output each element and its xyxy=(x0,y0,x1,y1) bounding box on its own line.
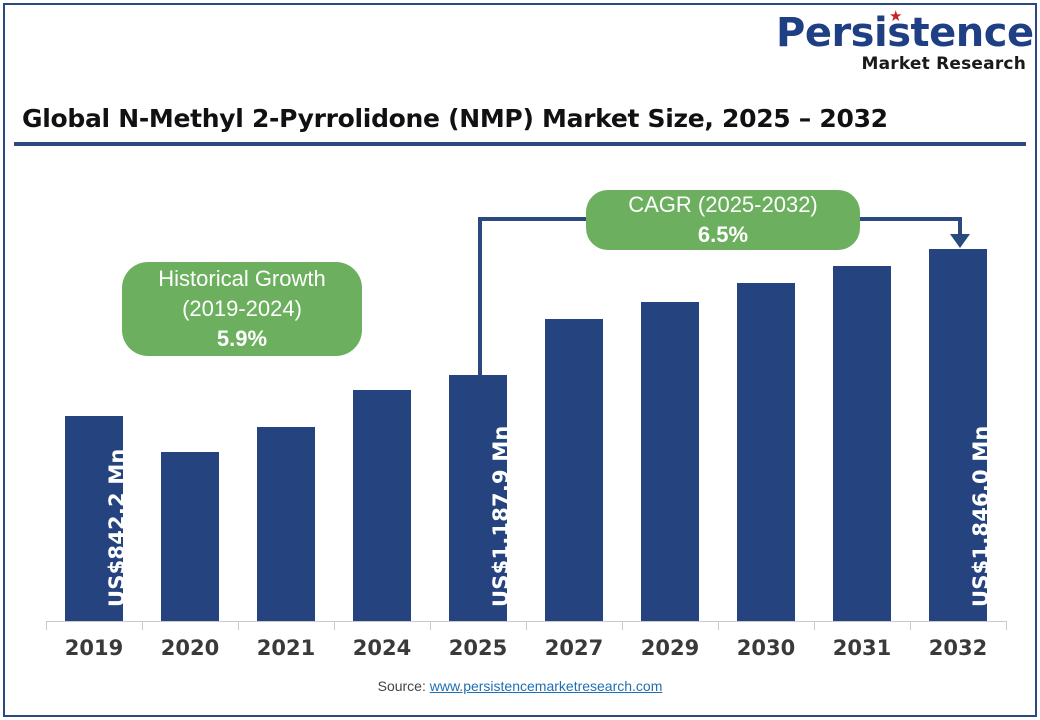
x-axis-label-2024: 2024 xyxy=(334,636,430,660)
x-axis-tick xyxy=(718,621,719,630)
x-axis-tick xyxy=(910,621,911,630)
bar-2024[interactable] xyxy=(353,390,411,621)
cagr-value: 6.5% xyxy=(698,220,748,250)
bar-2021[interactable] xyxy=(257,427,315,621)
x-axis-label-2021: 2021 xyxy=(238,636,334,660)
bar-value-label-2025: US$1,187.9 Mn xyxy=(489,425,513,607)
bar-2029[interactable] xyxy=(641,302,699,621)
historical-growth-line1: Historical Growth xyxy=(158,264,325,294)
historical-growth-line2: (2019-2024) xyxy=(182,294,302,324)
x-axis-label-2030: 2030 xyxy=(718,636,814,660)
x-axis-label-2020: 2020 xyxy=(142,636,238,660)
x-axis-tick xyxy=(814,621,815,630)
x-axis-tick xyxy=(622,621,623,630)
x-axis-label-2029: 2029 xyxy=(622,636,718,660)
bar-value-label-2032: US$1,846.0 Mn xyxy=(969,425,993,607)
x-axis-tick xyxy=(430,621,431,630)
bar-2030[interactable] xyxy=(737,283,795,621)
x-axis-tick xyxy=(142,621,143,630)
chart-page: Persistence ★ Market Research Global N-M… xyxy=(0,0,1040,720)
cagr-arrow-icon xyxy=(950,234,970,248)
x-axis-label-2025: 2025 xyxy=(430,636,526,660)
historical-growth-value: 5.9% xyxy=(217,324,267,354)
source-prefix: Source: xyxy=(378,678,430,694)
x-axis-tick xyxy=(334,621,335,630)
x-axis-label-2019: 2019 xyxy=(46,636,142,660)
x-axis-label-2031: 2031 xyxy=(814,636,910,660)
source-line: Source: www.persistencemarketresearch.co… xyxy=(0,678,1040,694)
x-axis-tick xyxy=(46,621,47,630)
bar-2020[interactable] xyxy=(161,452,219,621)
cagr-connector-left-horizontal xyxy=(478,217,588,221)
bar-chart: US$842.2 Mn2019202020212024US$1,187.9 Mn… xyxy=(0,0,1040,720)
cagr-line1: CAGR (2025-2032) xyxy=(628,190,818,220)
x-axis-tick xyxy=(1006,621,1007,630)
cagr-callout: CAGR (2025-2032) 6.5% xyxy=(586,190,860,250)
bar-2031[interactable] xyxy=(833,266,891,621)
x-axis-tick xyxy=(526,621,527,630)
source-link[interactable]: www.persistencemarketresearch.com xyxy=(430,678,663,694)
bar-2027[interactable] xyxy=(545,319,603,621)
x-axis-tick xyxy=(238,621,239,630)
cagr-connector-left-vertical xyxy=(478,217,482,377)
x-axis-label-2027: 2027 xyxy=(526,636,622,660)
cagr-connector-right-horizontal xyxy=(858,217,962,221)
x-axis-label-2032: 2032 xyxy=(910,636,1006,660)
bar-value-label-2019: US$842.2 Mn xyxy=(105,448,129,607)
historical-growth-callout: Historical Growth (2019-2024) 5.9% xyxy=(122,262,362,356)
